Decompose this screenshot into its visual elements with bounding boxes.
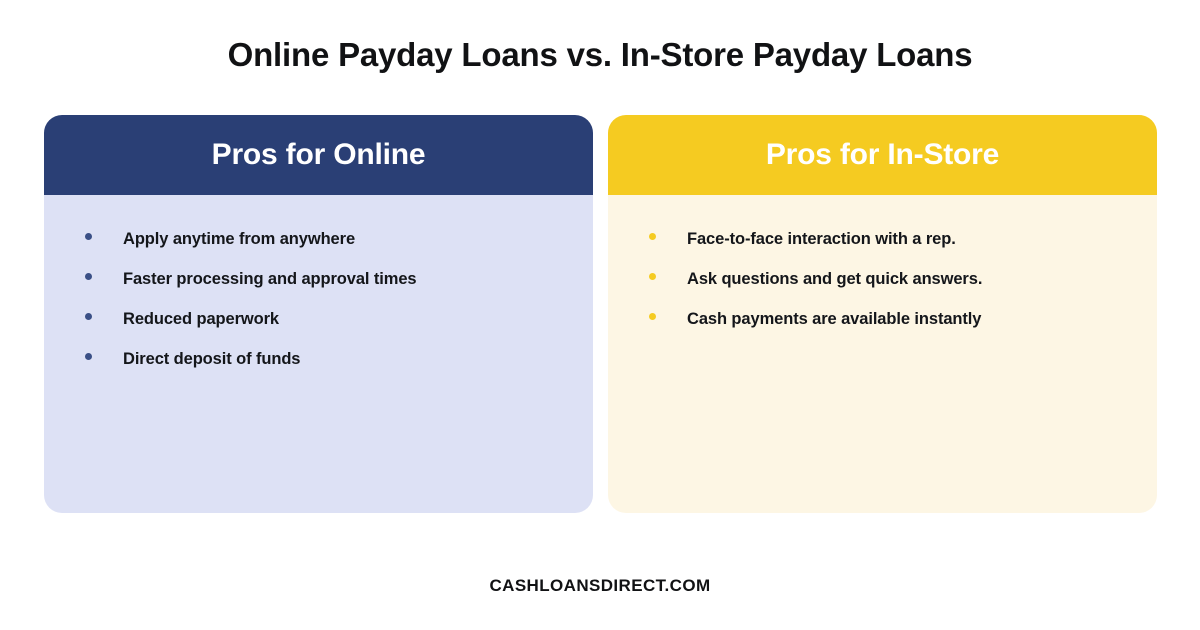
- bullet-dot-icon: [649, 273, 656, 280]
- bullet-dot-icon: [85, 353, 92, 360]
- list-item-label: Apply anytime from anywhere: [123, 219, 355, 259]
- list-item: Faster processing and approval times: [64, 259, 573, 299]
- card-header-online: Pros for Online: [44, 115, 593, 195]
- card-pros-for-online: Pros for Online Apply anytime from anywh…: [44, 115, 593, 513]
- list-item: Direct deposit of funds: [64, 339, 573, 379]
- card-body-in-store: Face-to-face interaction with a rep. Ask…: [608, 195, 1157, 513]
- page-title: Online Payday Loans vs. In-Store Payday …: [0, 36, 1200, 74]
- comparison-infographic: Online Payday Loans vs. In-Store Payday …: [0, 0, 1200, 630]
- list-item: Ask questions and get quick answers.: [628, 259, 1137, 299]
- card-header-in-store: Pros for In-Store: [608, 115, 1157, 195]
- footer-brand: CASHLOANSDIRECT.COM: [0, 576, 1200, 596]
- list-item-label: Face-to-face interaction with a rep.: [687, 219, 956, 259]
- list-item-label: Faster processing and approval times: [123, 259, 417, 299]
- bullet-dot-icon: [649, 313, 656, 320]
- list-item-label: Cash payments are available instantly: [687, 299, 981, 339]
- pros-list-in-store: Face-to-face interaction with a rep. Ask…: [628, 219, 1137, 339]
- bullet-dot-icon: [85, 313, 92, 320]
- pros-list-online: Apply anytime from anywhere Faster proce…: [64, 219, 573, 379]
- bullet-dot-icon: [649, 233, 656, 240]
- card-body-online: Apply anytime from anywhere Faster proce…: [44, 195, 593, 513]
- list-item-label: Direct deposit of funds: [123, 339, 300, 379]
- bullet-dot-icon: [85, 233, 92, 240]
- list-item: Apply anytime from anywhere: [64, 219, 573, 259]
- comparison-cards: Pros for Online Apply anytime from anywh…: [44, 115, 1157, 513]
- list-item: Face-to-face interaction with a rep.: [628, 219, 1137, 259]
- card-pros-for-in-store: Pros for In-Store Face-to-face interacti…: [608, 115, 1157, 513]
- list-item-label: Ask questions and get quick answers.: [687, 259, 982, 299]
- list-item-label: Reduced paperwork: [123, 299, 279, 339]
- list-item: Cash payments are available instantly: [628, 299, 1137, 339]
- bullet-dot-icon: [85, 273, 92, 280]
- list-item: Reduced paperwork: [64, 299, 573, 339]
